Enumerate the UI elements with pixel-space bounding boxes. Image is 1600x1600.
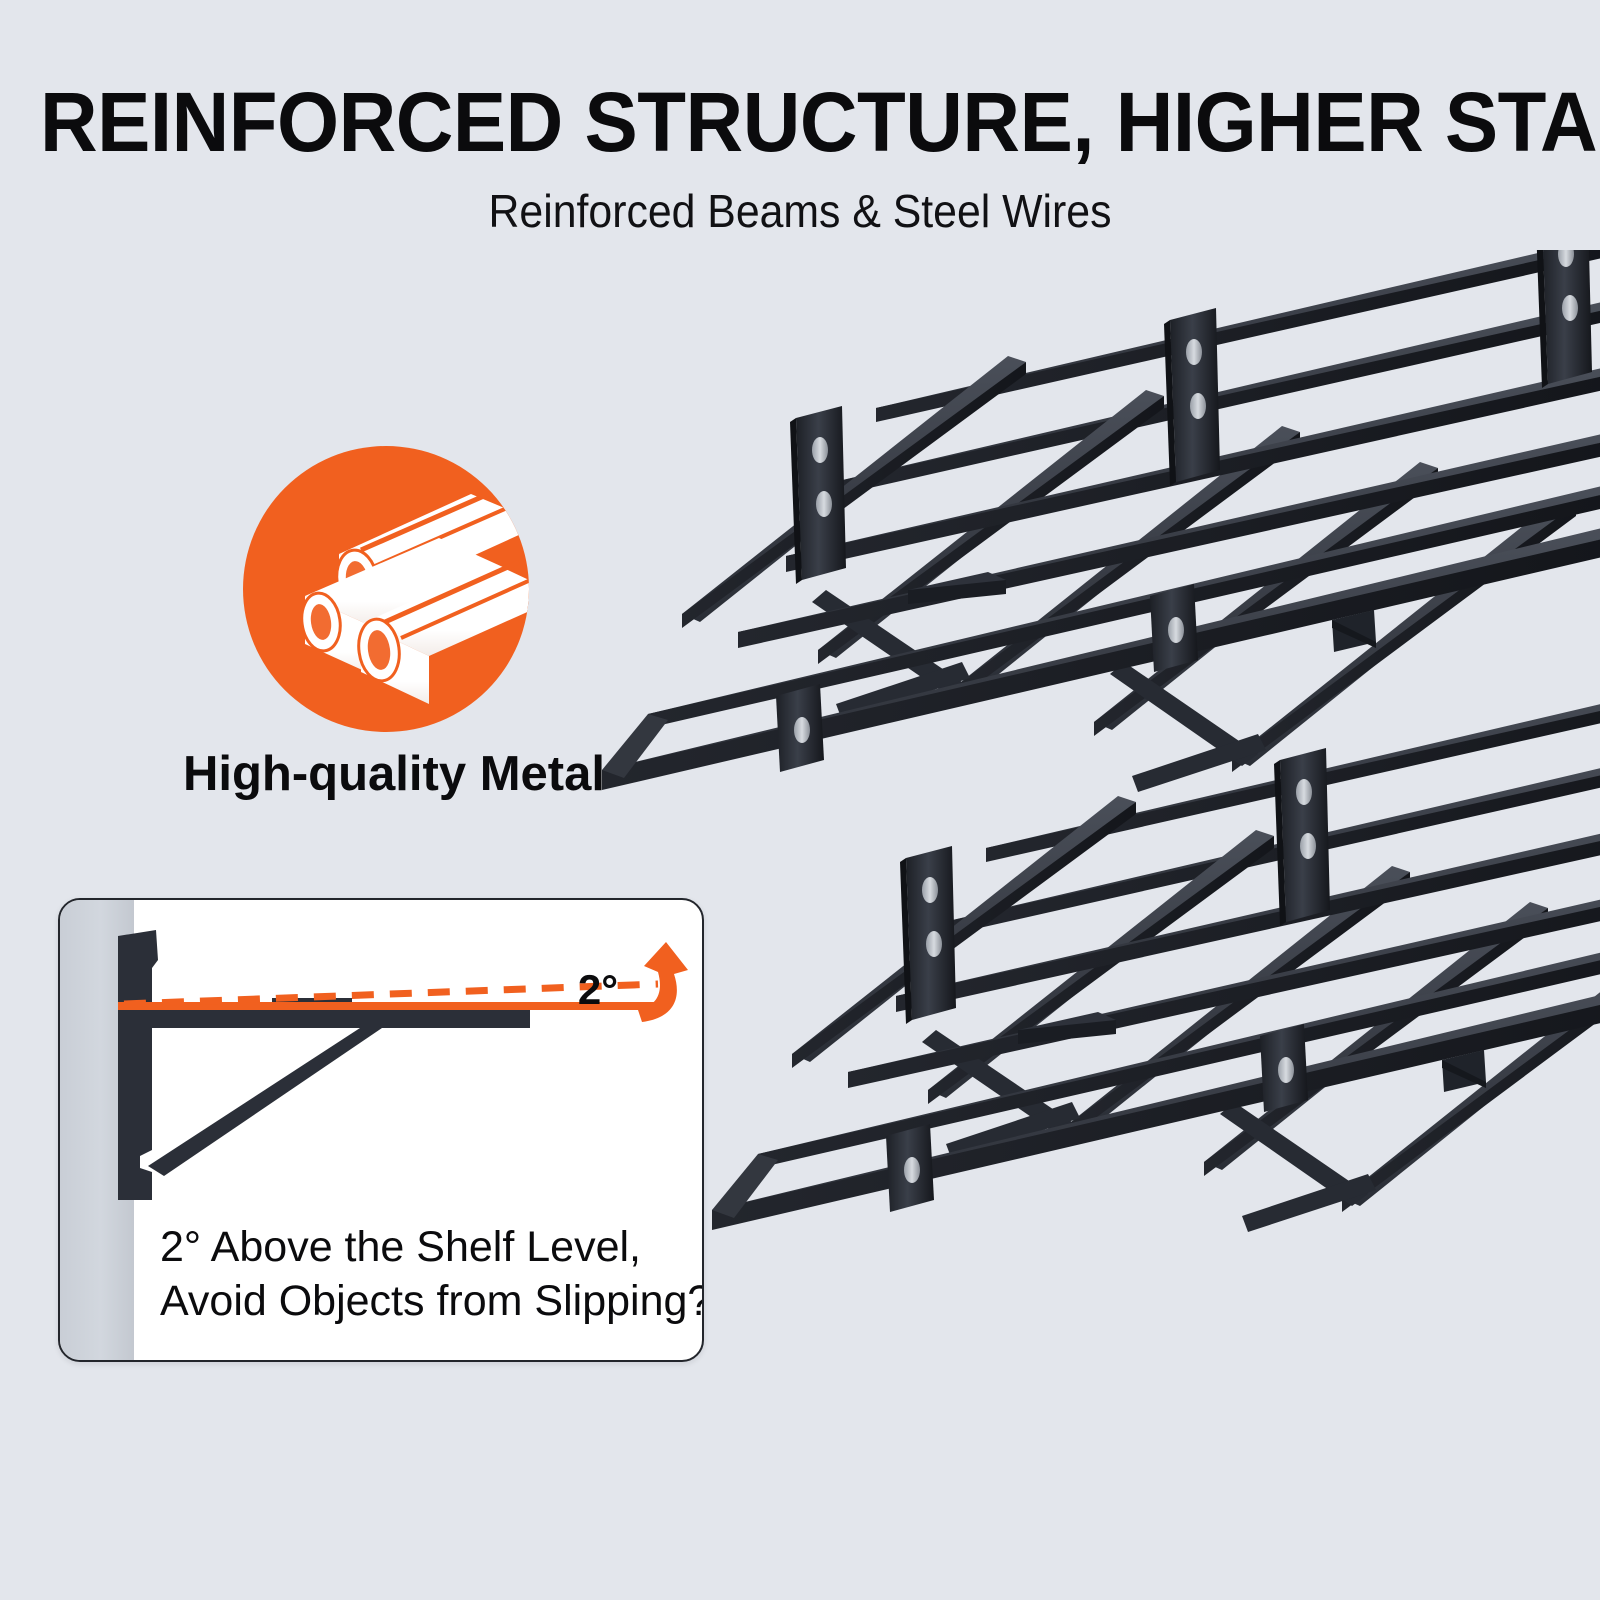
upper-shelf — [602, 250, 1600, 792]
bracket-horizontal-arm — [118, 1008, 530, 1028]
lower-shelf — [712, 650, 1600, 1232]
marketing-image-canvas: REINFORCED STRUCTURE, HIGHER STABILITY R… — [0, 0, 1600, 1600]
feature-badge: High-quality Metal — [243, 446, 529, 732]
feature-badge-label: High-quality Metal — [183, 746, 589, 802]
page-subtitle: Reinforced Beams & Steel Wires — [56, 182, 1544, 240]
bracket-wall-plate — [118, 930, 158, 1200]
page-title: REINFORCED STRUCTURE, HIGHER STABILITY — [40, 76, 1560, 168]
bracket-diagonal-brace — [148, 1028, 382, 1176]
metal-pipes-icon — [243, 446, 529, 732]
product-photo — [600, 250, 1600, 1400]
